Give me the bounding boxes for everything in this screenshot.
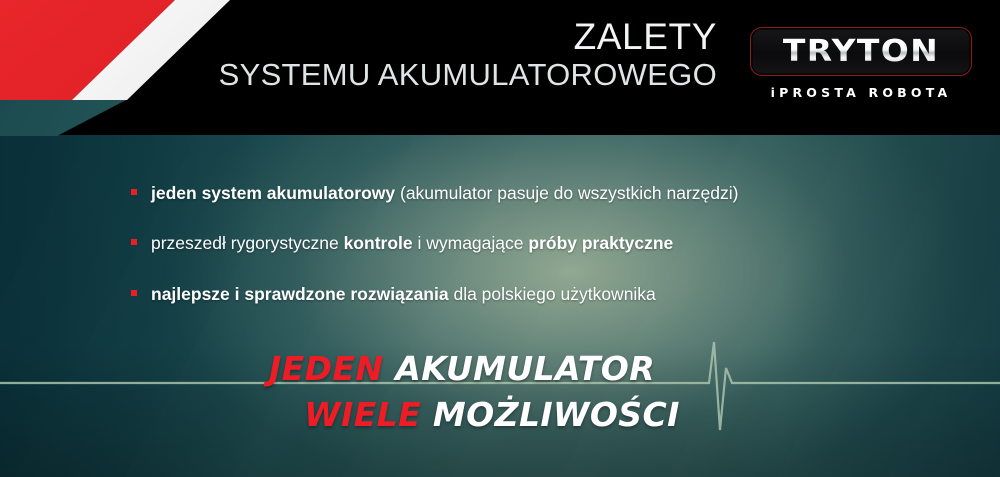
bullet-square-icon [131, 290, 137, 296]
list-item-bold: kontrole [344, 233, 413, 253]
slogan-plain-2-text: MOŻLIWOŚCI [433, 395, 680, 434]
slide-canvas: ZALETY SYSTEMU AKUMULATOROWEGO TRYTON iP… [0, 0, 1000, 477]
page-title: ZALETY SYSTEMU AKUMULATOROWEGO [219, 18, 717, 90]
title-secondary: SYSTEMU AKUMULATOROWEGO [219, 59, 717, 90]
list-item-text: najlepsze i sprawdzone rozwiązania dla p… [151, 282, 656, 307]
logo-plate: TRYTON [750, 27, 972, 76]
list-item: najlepsze i sprawdzone rozwiązania dla p… [131, 282, 738, 307]
slogan-line-1: JEDEN AKUMULATOR [0, 352, 1000, 385]
logo-tagline: iPROSTA ROBOTA [750, 85, 972, 100]
list-item-pre: przeszedł rygorystyczne [151, 233, 344, 253]
list-item-text: jeden system akumulatorowy (akumulator p… [151, 181, 738, 206]
list-item-bold: jeden system akumulatorowy [151, 183, 395, 203]
list-item: przeszedł rygorystyczne kontrole i wymag… [131, 231, 738, 256]
list-item-bold: najlepsze i sprawdzone rozwiązania [151, 284, 449, 304]
title-primary: ZALETY [219, 18, 717, 55]
bullet-square-icon [131, 239, 137, 245]
slogan-line-2: WIELE MOŻLIWOŚCI [0, 398, 1000, 431]
slogan-plain-2 [421, 395, 433, 434]
list-item-normal: (akumulator pasuje do wszystkich narzędz… [395, 183, 738, 203]
brand-logo[interactable]: TRYTON iPROSTA ROBOTA [750, 27, 972, 100]
slogan-accent-2: WIELE [304, 395, 421, 434]
list-item-normal: dla polskiego użytkownika [449, 284, 656, 304]
list-item: jeden system akumulatorowy (akumulator p… [131, 181, 738, 206]
bullet-square-icon [131, 189, 137, 195]
list-item-mid: i wymagające [413, 233, 529, 253]
list-item-bold-2: próby praktyczne [528, 233, 673, 253]
list-item-text: przeszedł rygorystyczne kontrole i wymag… [151, 231, 673, 256]
benefits-list: jeden system akumulatorowy (akumulator p… [131, 181, 738, 307]
slogan-plain-1-text: AKUMULATOR [395, 349, 655, 388]
slogan-plain-1 [383, 349, 395, 388]
slogan-accent-1: JEDEN [269, 349, 383, 388]
slogan-block: JEDEN AKUMULATOR WIELE MOŻLIWOŚCI [0, 352, 1000, 431]
logo-wordmark: TRYTON [783, 37, 939, 67]
